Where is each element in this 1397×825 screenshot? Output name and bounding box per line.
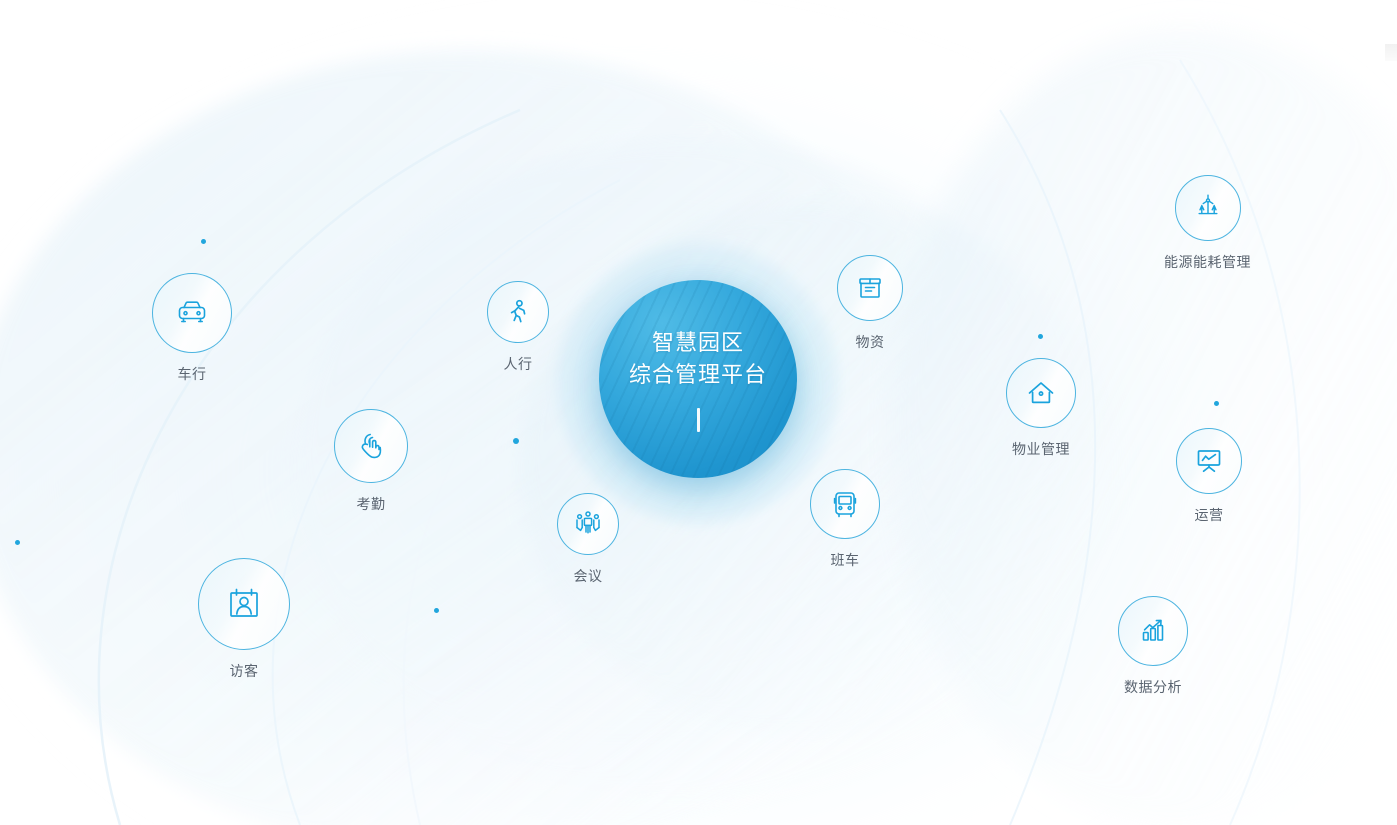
hub-accent-bar: [697, 408, 700, 432]
node-vehicle[interactable]: 车行: [152, 273, 232, 384]
node-meeting-label: 会议: [574, 566, 603, 586]
node-pedestrian[interactable]: 人行: [487, 281, 549, 374]
node-energy-label: 能源能耗管理: [1164, 252, 1251, 272]
node-attendance-ring[interactable]: [334, 409, 408, 483]
node-meeting-ring[interactable]: [557, 493, 619, 555]
house-icon: [1024, 376, 1058, 410]
decor-dot-3: [434, 608, 439, 613]
bus-icon: [828, 487, 862, 521]
node-analytics-label: 数据分析: [1124, 677, 1182, 697]
node-visitor-label: 访客: [230, 661, 259, 681]
node-analytics[interactable]: 数据分析: [1118, 596, 1188, 697]
fingerprint-hand-icon: [353, 428, 389, 464]
node-attendance-label: 考勤: [357, 494, 386, 514]
node-property-ring[interactable]: [1006, 358, 1076, 428]
node-vehicle-label: 车行: [178, 364, 207, 384]
wind-turbine-icon: [1191, 191, 1225, 225]
bar-chart-growth-icon: [1136, 614, 1170, 648]
node-visitor[interactable]: 访客: [198, 558, 290, 681]
node-visitor-ring[interactable]: [198, 558, 290, 650]
node-materials-ring[interactable]: [837, 255, 903, 321]
package-box-icon: [854, 272, 886, 304]
node-energy[interactable]: 能源能耗管理: [1164, 175, 1251, 272]
node-property-label: 物业管理: [1012, 439, 1070, 459]
node-operations[interactable]: 运营: [1176, 428, 1242, 525]
meeting-people-icon: [572, 508, 604, 540]
hub-text-block: 智慧园区 综合管理平台: [599, 280, 797, 478]
decor-dot-4: [513, 438, 519, 444]
decor-dot-5: [1038, 334, 1043, 339]
decor-dot-1: [201, 239, 206, 244]
node-vehicle-ring[interactable]: [152, 273, 232, 353]
car-icon: [173, 294, 211, 332]
node-meeting[interactable]: 会议: [557, 493, 619, 586]
decor-dot-6: [1214, 401, 1219, 406]
node-pedestrian-label: 人行: [504, 354, 533, 374]
walking-person-icon: [503, 297, 533, 327]
node-operations-ring[interactable]: [1176, 428, 1242, 494]
node-attendance[interactable]: 考勤: [334, 409, 408, 514]
smart-park-platform-diagram: 智慧园区 综合管理平台 车行: [0, 0, 1397, 825]
node-materials[interactable]: 物资: [837, 255, 903, 352]
presentation-chart-icon: [1192, 444, 1226, 478]
node-analytics-ring[interactable]: [1118, 596, 1188, 666]
visitor-badge-icon: [222, 582, 266, 626]
node-pedestrian-ring[interactable]: [487, 281, 549, 343]
node-energy-ring[interactable]: [1175, 175, 1241, 241]
node-materials-label: 物资: [856, 332, 885, 352]
node-property[interactable]: 物业管理: [1006, 358, 1076, 459]
node-shuttle-label: 班车: [831, 550, 860, 570]
decor-dot-2: [15, 540, 20, 545]
edge-artifact: [1385, 44, 1397, 61]
hub-title-line-1: 智慧园区: [652, 327, 744, 359]
center-hub[interactable]: 智慧园区 综合管理平台: [599, 280, 797, 478]
node-operations-label: 运营: [1195, 505, 1224, 525]
node-shuttle[interactable]: 班车: [810, 469, 880, 570]
hub-title-line-2: 综合管理平台: [629, 359, 767, 391]
node-shuttle-ring[interactable]: [810, 469, 880, 539]
